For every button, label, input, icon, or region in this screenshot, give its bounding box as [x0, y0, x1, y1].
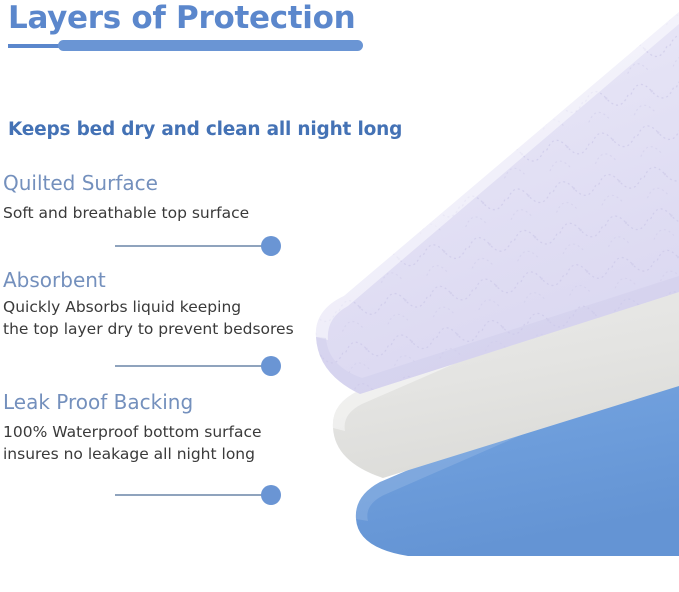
connector-leak-proof-backing	[115, 485, 281, 505]
connector-absorbent	[115, 356, 281, 376]
connector-dot-icon	[261, 236, 281, 256]
feature-description-quilted-surface: Soft and breathable top surface	[3, 202, 249, 224]
feature-description-leak-proof-line-1: 100% Waterproof bottom surface	[3, 421, 262, 443]
title-underline-accent	[8, 40, 363, 52]
connector-dot-icon	[261, 485, 281, 505]
feature-description-absorbent-line-2: the top layer dry to prevent bedsores	[3, 318, 294, 340]
connector-quilted-surface	[115, 236, 281, 256]
feature-description-absorbent-line-1: Quickly Absorbs liquid keeping	[3, 296, 241, 318]
feature-title-absorbent: Absorbent	[3, 266, 106, 294]
connector-line	[115, 494, 265, 496]
feature-title-leak-proof-backing: Leak Proof Backing	[3, 388, 193, 416]
title-underline-thick-bar	[58, 40, 363, 51]
connector-dot-icon	[261, 356, 281, 376]
content-column: Layers of Protection Keeps bed dry and c…	[0, 0, 440, 592]
feature-description-leak-proof-line-2: insures no leakage all night long	[3, 443, 255, 465]
feature-title-quilted-surface: Quilted Surface	[3, 169, 158, 197]
sub-headline: Keeps bed dry and clean all night long	[8, 117, 402, 143]
connector-line	[115, 245, 265, 247]
page-title: Layers of Protection	[8, 0, 355, 38]
connector-line	[115, 365, 265, 367]
